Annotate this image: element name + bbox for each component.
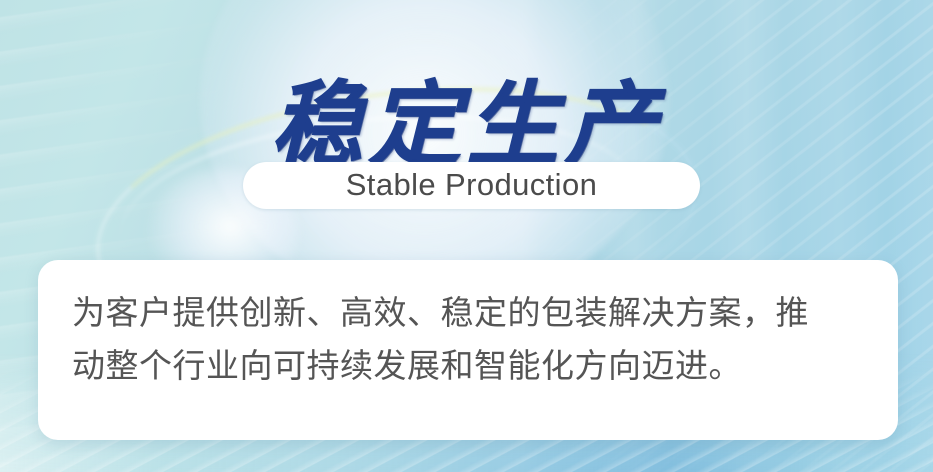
description-line-1: 为客户提供创新、高效、稳定的包装解决方案，推 (72, 286, 864, 339)
page-title: 稳定生产 (0, 80, 933, 172)
description-line-2: 动整个行业向可持续发展和智能化方向迈进。 (72, 339, 864, 392)
subtitle-pill-label: Stable Production (346, 167, 598, 203)
description-text: 为客户提供创新、高效、稳定的包装解决方案，推 动整个行业向可持续发展和智能化方向… (72, 286, 864, 393)
subtitle-pill: Stable Production (243, 162, 700, 209)
stable-production-banner: 稳定生产 Stable Production 为客户提供创新、高效、稳定的包装解… (0, 0, 933, 472)
description-card: 为客户提供创新、高效、稳定的包装解决方案，推 动整个行业向可持续发展和智能化方向… (38, 260, 898, 440)
